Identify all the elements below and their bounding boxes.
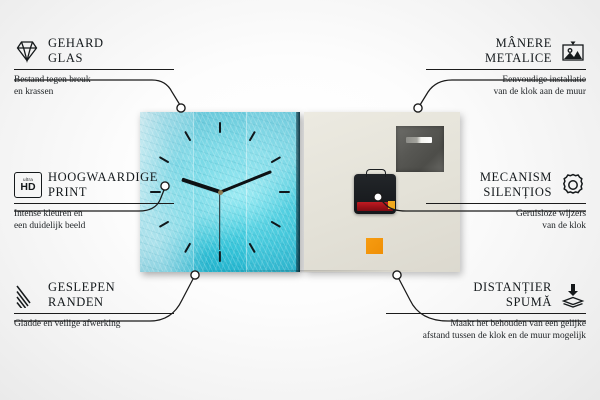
clock-tick xyxy=(219,122,221,133)
picture-hanger-icon xyxy=(560,38,586,64)
feature-title: HOOGWAARDIGE PRINT xyxy=(48,170,158,200)
feature-geslepen-randen: GESLEPEN RANDEN Gladde en veilige afwerk… xyxy=(14,280,174,330)
product-drop-shadow xyxy=(142,270,464,278)
feature-description: Geruisloze wijzers van de klok xyxy=(426,208,586,232)
gear-icon xyxy=(560,172,586,198)
feature-description: Eenvoudige installatie van de klok aan d… xyxy=(426,74,586,98)
feature-title: GEHARD GLAS xyxy=(48,36,104,66)
battery xyxy=(357,202,393,211)
feature-description: Gladde en veilige afwerking xyxy=(14,318,174,330)
feature-hoogwaardige-print: ultra HD HOOGWAARDIGE PRINT Intense kleu… xyxy=(14,170,174,232)
ultra-hd-label: HD xyxy=(20,182,35,193)
foam-spacer-pad xyxy=(366,238,383,254)
battery-terminal xyxy=(388,201,395,209)
feature-header: GEHARD GLAS xyxy=(14,36,174,66)
leader-dot-manere-metalice xyxy=(414,104,422,112)
mechanism-hook xyxy=(366,169,386,177)
feature-title: MECANISM SILENȚIOS xyxy=(480,170,552,200)
feature-header: MÂNERE METALICE xyxy=(426,36,586,66)
feature-divider xyxy=(426,69,586,70)
feature-mecanism-silentios: MECANISM SILENȚIOS Geruisloze wijzers va… xyxy=(426,170,586,232)
feature-header: GESLEPEN RANDEN xyxy=(14,280,174,310)
feature-header: MECANISM SILENȚIOS xyxy=(426,170,586,200)
clock-tick xyxy=(219,251,221,262)
feature-divider xyxy=(14,203,174,204)
feature-divider xyxy=(426,203,586,204)
feature-gehard-glas: GEHARD GLAS Bestand tegen breuk en krass… xyxy=(14,36,174,98)
feature-distantier-spuma: DISTANȚIER SPUMĂ Maakt het behouden van … xyxy=(386,280,586,342)
feature-divider xyxy=(386,313,586,314)
infographic-canvas: GEHARD GLAS Bestand tegen breuk en krass… xyxy=(0,0,600,400)
feature-description: Bestand tegen breuk en krassen xyxy=(14,74,174,98)
feature-manere-metalice: MÂNERE METALICE Eenvoudige installatie v… xyxy=(426,36,586,98)
hanger-slot xyxy=(406,137,432,143)
feature-title: DISTANȚIER SPUMĂ xyxy=(473,280,552,310)
leader-dot-gehard-glas xyxy=(177,104,185,112)
feature-description: Maakt het behouden van een gelijke afsta… xyxy=(386,318,586,342)
metal-hanger-plate xyxy=(396,126,444,172)
foam-spacer-icon xyxy=(560,282,586,308)
beveled-edges-icon xyxy=(14,282,40,308)
feature-title: MÂNERE METALICE xyxy=(485,36,552,66)
feature-divider xyxy=(14,69,174,70)
feature-description: Intense kleuren en een duidelijk beeld xyxy=(14,208,174,232)
quartz-mechanism-box xyxy=(354,174,396,214)
feature-header: DISTANȚIER SPUMĂ xyxy=(386,280,586,310)
clock-edge-shadow xyxy=(296,112,300,272)
clock-tick xyxy=(279,191,290,193)
feature-title: GESLEPEN RANDEN xyxy=(48,280,115,310)
feature-header: ultra HD HOOGWAARDIGE PRINT xyxy=(14,170,174,200)
feature-divider xyxy=(14,313,174,314)
diamond-icon xyxy=(14,38,40,64)
clock-center-hub xyxy=(218,190,223,195)
ultra-hd-icon: ultra HD xyxy=(14,172,40,198)
